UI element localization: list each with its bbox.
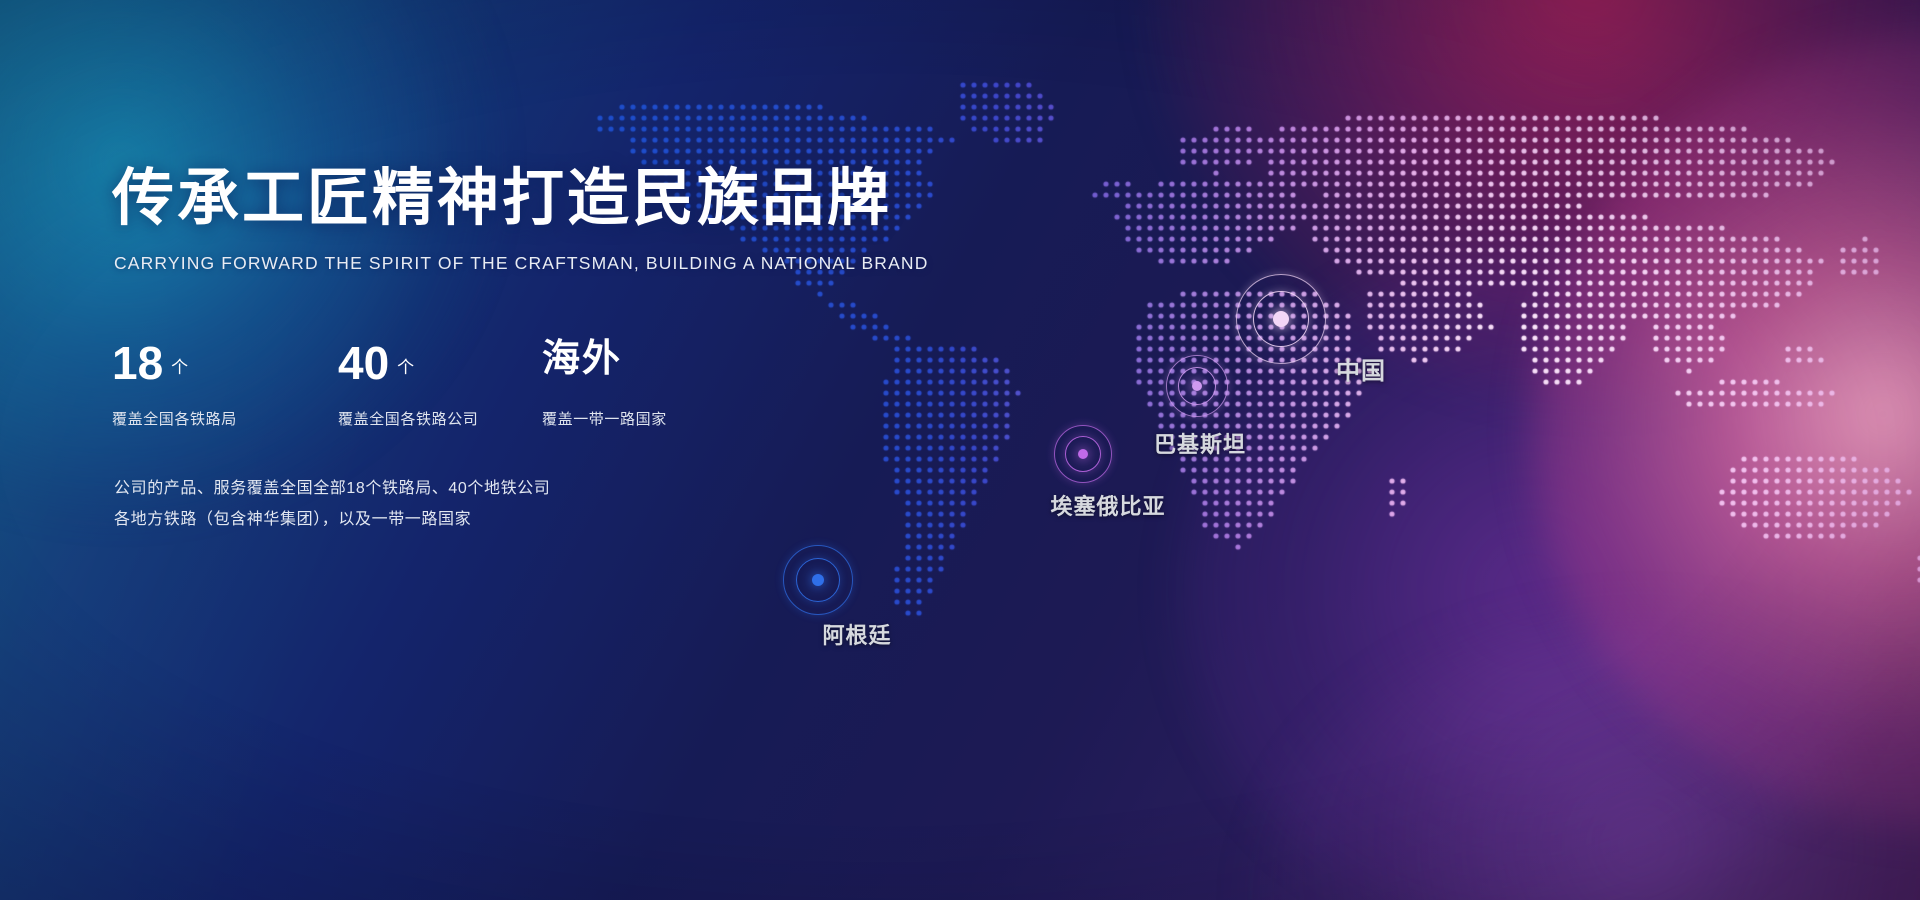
description-line: 公司的产品、服务覆盖全国全部18个铁路局、40个地铁公司 [114, 473, 550, 504]
stat-value: 18 [112, 340, 163, 386]
stat-caption: 覆盖全国各铁路公司 [338, 408, 542, 429]
marker-core-dot [1273, 311, 1289, 327]
description-paragraph: 公司的产品、服务覆盖全国全部18个铁路局、40个地铁公司各地方铁路（包含神华集团… [114, 473, 550, 535]
map-marker-label: 阿根廷 [822, 618, 891, 650]
marker-core-dot [1078, 449, 1088, 459]
description-line: 各地方铁路（包含神华集团），以及一带一路国家 [114, 504, 550, 535]
stat-caption: 覆盖全国各铁路局 [112, 408, 338, 429]
stat-value-row: 40个 [338, 340, 542, 396]
stat-value: 40 [338, 340, 389, 386]
stat-item: 海外覆盖一带一路国家 [542, 340, 742, 429]
map-marker-label: 巴基斯坦 [1154, 427, 1246, 459]
map-marker-label: 埃塞俄比亚 [1050, 489, 1165, 521]
stat-value: 海外 [542, 340, 622, 378]
stat-item: 18个覆盖全国各铁路局 [112, 340, 338, 429]
page-subtitle: CARRYING FORWARD THE SPIRIT OF THE CRAFT… [114, 253, 929, 274]
stat-unit: 个 [171, 353, 188, 378]
stat-item: 40个覆盖全国各铁路公司 [338, 340, 542, 429]
page-title: 传承工匠精神打造民族品牌 [112, 168, 892, 230]
vignette-overlay [0, 0, 1920, 900]
marker-core-dot [1192, 381, 1202, 391]
marker-core-dot [812, 574, 824, 586]
stat-value-row: 海外 [542, 340, 742, 396]
stats-row: 18个覆盖全国各铁路局40个覆盖全国各铁路公司海外覆盖一带一路国家 [112, 340, 742, 429]
stat-value-row: 18个 [112, 340, 338, 396]
hero-banner: 阿根廷埃塞俄比亚巴基斯坦中国 传承工匠精神打造民族品牌 CARRYING FOR… [0, 0, 1920, 900]
map-marker-label: 中国 [1336, 351, 1386, 386]
stat-unit: 个 [397, 353, 414, 378]
stat-caption: 覆盖一带一路国家 [542, 408, 742, 429]
